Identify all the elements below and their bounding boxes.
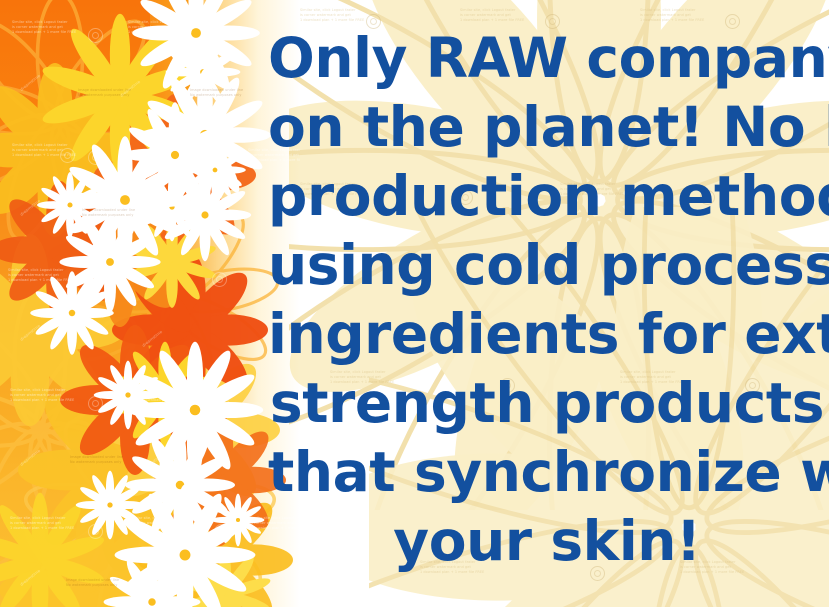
watermark-tile: Similar site, click Logout faster is cor… (640, 8, 704, 23)
watermark-tile: Similar site, click Logout faster is cor… (12, 20, 76, 35)
watermark-tile: Image downloaded under line No watermark… (66, 578, 119, 588)
watermark-ring-icon (60, 148, 75, 163)
headline-line-7: that synchronize with (268, 438, 826, 507)
headline-line-6: strength products (268, 369, 826, 438)
watermark-tile: Similar site, click Logout faster is cor… (140, 388, 204, 403)
headline-line-8: your skin! (268, 507, 826, 576)
watermark-tile: Similar site, click Logout faster is cor… (10, 388, 74, 403)
watermark-ring-icon (90, 272, 105, 287)
watermark-tile: Similar site, click Logout faster is cor… (128, 20, 192, 35)
watermark-tile: Image downloaded under line No watermark… (190, 88, 243, 98)
headline-line-2: on the planet! No heat (268, 93, 826, 162)
watermark-tile: Similar site, click Logout faster is cor… (460, 8, 524, 23)
watermark-ring-icon (212, 28, 227, 43)
headline-line-4: using cold processed (268, 231, 826, 300)
watermark-tile: Similar site, click Logout faster is cor… (300, 8, 364, 23)
watermark-tile: Similar site, click Logout faster is cor… (8, 268, 72, 283)
watermark-tile: Similar site, click Logout faster is cor… (10, 516, 74, 531)
headline-line-1: Only RAW company (268, 24, 826, 93)
floral-border-panel: Similar site, click Logout faster is cor… (0, 0, 300, 607)
watermark-tile: Image downloaded under line No watermark… (70, 455, 123, 465)
watermark-ring-icon (88, 524, 103, 539)
watermark-ring-icon (214, 524, 229, 539)
watermark-tile: Image downloaded under line No watermark… (82, 208, 135, 218)
watermark-ring-icon (212, 272, 227, 287)
watermark-ring-icon (88, 396, 103, 411)
watermark-ring-icon (88, 150, 103, 165)
headline-text: Only RAW company on the planet! No heat … (268, 24, 826, 576)
watermark-ring-icon (88, 28, 103, 43)
watermark-ring-icon (214, 396, 229, 411)
watermark-tile: Similar site, click Logout faster is cor… (130, 516, 194, 531)
poster-canvas: Similar site, click Logout faster is cor… (0, 0, 829, 607)
headline-line-5: ingredients for extra (268, 300, 826, 369)
headline-line-3: production method (268, 162, 826, 231)
